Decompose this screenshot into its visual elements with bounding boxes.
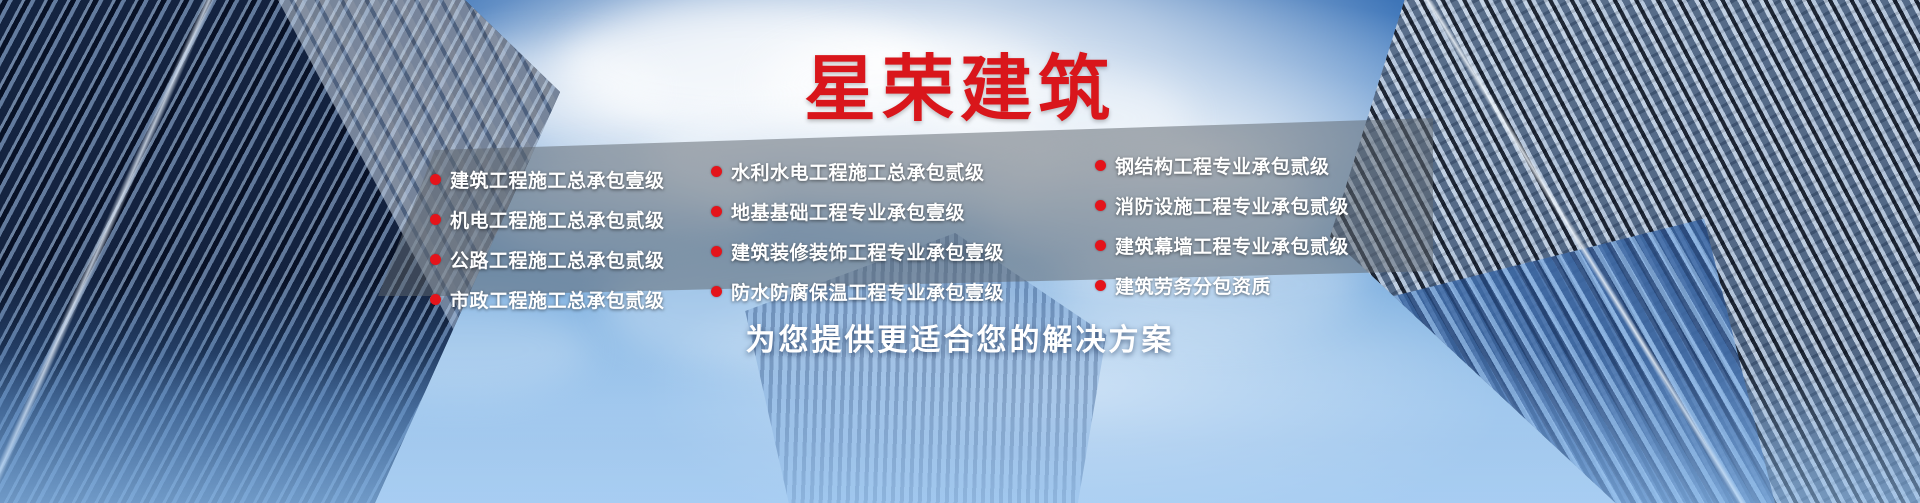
qualification-label: 钢结构工程专业承包贰级 — [1115, 152, 1330, 179]
qualification-label: 公路工程施工总承包贰级 — [450, 246, 665, 273]
qualification-label: 建筑劳务分包资质 — [1115, 272, 1271, 299]
banner-tagline: 为您提供更适合您的解决方案 — [0, 315, 1920, 359]
list-item: 建筑劳务分包资质 — [1095, 272, 1413, 299]
bullet-dot-icon — [430, 294, 441, 305]
bullet-dot-icon — [1095, 160, 1106, 171]
list-item: 机电工程施工总承包贰级 — [430, 206, 703, 233]
qualification-column-3: 钢结构工程专业承包贰级 消防设施工程专业承包贰级 建筑幕墙工程专业承包贰级 建筑… — [1073, 144, 1413, 296]
qualification-column-1: 建筑工程施工总承包壹级 机电工程施工总承包贰级 公路工程施工总承包贰级 市政工程… — [378, 144, 703, 296]
bullet-dot-icon — [711, 206, 722, 217]
list-item: 地基基础工程专业承包壹级 — [711, 198, 1073, 225]
qualification-label: 建筑工程施工总承包壹级 — [450, 166, 665, 193]
company-hero-banner: 星荣建筑 建筑工程施工总承包壹级 机电工程施工总承包贰级 公路工程施工总承包贰级… — [0, 0, 1920, 503]
list-item: 防水防腐保温工程专业承包壹级 — [711, 278, 1073, 305]
qualification-label: 建筑幕墙工程专业承包贰级 — [1115, 232, 1349, 259]
qualification-label: 机电工程施工总承包贰级 — [450, 206, 665, 233]
qualification-label: 地基基础工程专业承包壹级 — [731, 198, 965, 225]
qualification-column-2: 水利水电工程施工总承包贰级 地基基础工程专业承包壹级 建筑装修装饰工程专业承包壹… — [703, 144, 1073, 296]
qualification-label: 水利水电工程施工总承包贰级 — [731, 158, 985, 185]
bullet-dot-icon — [1095, 280, 1106, 291]
bullet-dot-icon — [711, 246, 722, 257]
list-item: 建筑装修装饰工程专业承包壹级 — [711, 238, 1073, 265]
list-item: 建筑幕墙工程专业承包贰级 — [1095, 232, 1413, 259]
list-item: 消防设施工程专业承包贰级 — [1095, 192, 1413, 219]
bullet-dot-icon — [711, 286, 722, 297]
qualification-label: 防水防腐保温工程专业承包壹级 — [731, 278, 1004, 305]
qualifications-panel: 建筑工程施工总承包壹级 机电工程施工总承包贰级 公路工程施工总承包贰级 市政工程… — [378, 118, 1433, 296]
bullet-dot-icon — [711, 166, 722, 177]
bullet-dot-icon — [430, 254, 441, 265]
list-item: 市政工程施工总承包贰级 — [430, 286, 703, 313]
list-item: 水利水电工程施工总承包贰级 — [711, 158, 1073, 185]
qualification-label: 市政工程施工总承包贰级 — [450, 286, 665, 313]
qualification-label: 建筑装修装饰工程专业承包壹级 — [731, 238, 1004, 265]
bullet-dot-icon — [1095, 200, 1106, 211]
bullet-dot-icon — [430, 174, 441, 185]
bullet-dot-icon — [430, 214, 441, 225]
list-item: 钢结构工程专业承包贰级 — [1095, 152, 1413, 179]
list-item: 公路工程施工总承包贰级 — [430, 246, 703, 273]
qualification-label: 消防设施工程专业承包贰级 — [1115, 192, 1349, 219]
bullet-dot-icon — [1095, 240, 1106, 251]
list-item: 建筑工程施工总承包壹级 — [430, 166, 703, 193]
